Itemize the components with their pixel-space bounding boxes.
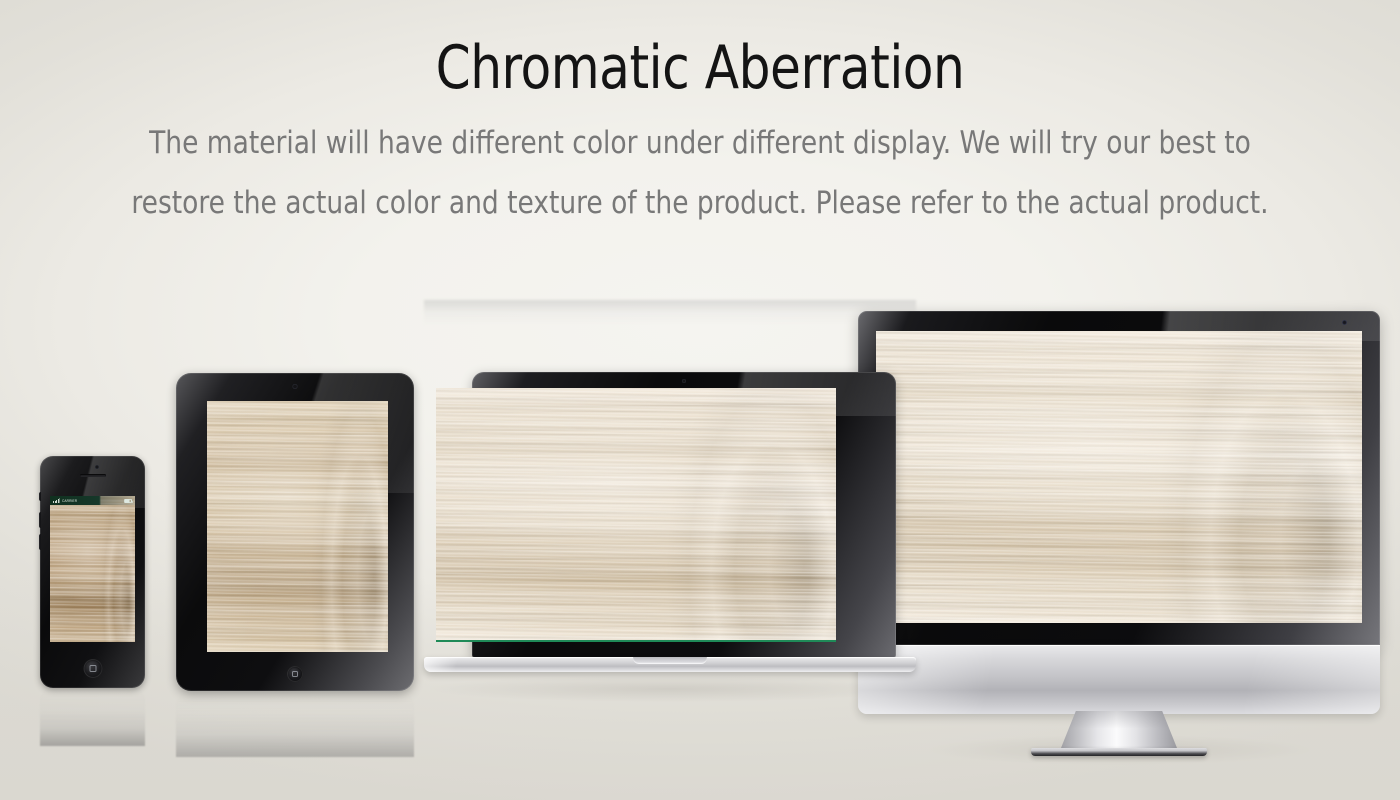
webcam-icon	[1342, 320, 1347, 325]
front-camera-icon	[95, 465, 99, 469]
tablet-reflection	[176, 691, 414, 757]
smartphone-reflection	[40, 688, 145, 746]
device-laptop[interactable]	[424, 372, 916, 672]
monitor-stand-neck	[1059, 711, 1179, 753]
shadow-pool-laptop	[430, 676, 910, 702]
device-desktop-monitor[interactable]	[858, 311, 1380, 751]
smartphone-status-bar: CARRIER	[50, 496, 135, 505]
banner-heading-block: Chromatic Aberration The material will h…	[0, 0, 1400, 234]
wood-texture-monitor	[876, 331, 1362, 623]
device-tablet[interactable]	[176, 373, 414, 691]
earpiece-speaker-icon	[80, 474, 106, 477]
monitor-stand-foot	[1031, 748, 1207, 756]
laptop-screen[interactable]	[436, 388, 836, 642]
wood-texture-tablet	[207, 401, 388, 652]
home-button-square-icon	[89, 665, 96, 672]
battery-icon	[124, 499, 132, 503]
home-button-square-icon	[292, 671, 298, 677]
front-camera-icon	[293, 384, 298, 389]
laptop-lid-notch	[633, 657, 707, 664]
banner-stage: Chromatic Aberration The material will h…	[0, 0, 1400, 800]
smartphone-volume-down-button[interactable]	[39, 534, 41, 550]
monitor-screen[interactable]	[876, 331, 1362, 623]
page-title: Chromatic Aberration	[49, 38, 1351, 98]
laptop-reflection	[424, 300, 916, 326]
monitor-chin	[858, 645, 1380, 714]
tablet-home-button[interactable]	[287, 666, 303, 682]
webcam-icon	[682, 379, 686, 383]
tablet-screen[interactable]	[207, 401, 388, 652]
smartphone-screen[interactable]: CARRIER	[50, 496, 135, 642]
page-subtitle: The material will have different color u…	[102, 114, 1299, 234]
wood-texture-laptop	[436, 388, 836, 642]
laptop-screen-edge-line	[436, 640, 836, 642]
smartphone-mute-switch[interactable]	[39, 492, 41, 501]
signal-strength-icon	[53, 498, 60, 503]
smartphone-volume-up-button[interactable]	[39, 512, 41, 528]
carrier-label: CARRIER	[62, 499, 77, 503]
device-smartphone[interactable]: CARRIER	[40, 456, 145, 688]
wood-texture-smartphone	[50, 496, 135, 642]
smartphone-home-button[interactable]	[83, 659, 102, 678]
